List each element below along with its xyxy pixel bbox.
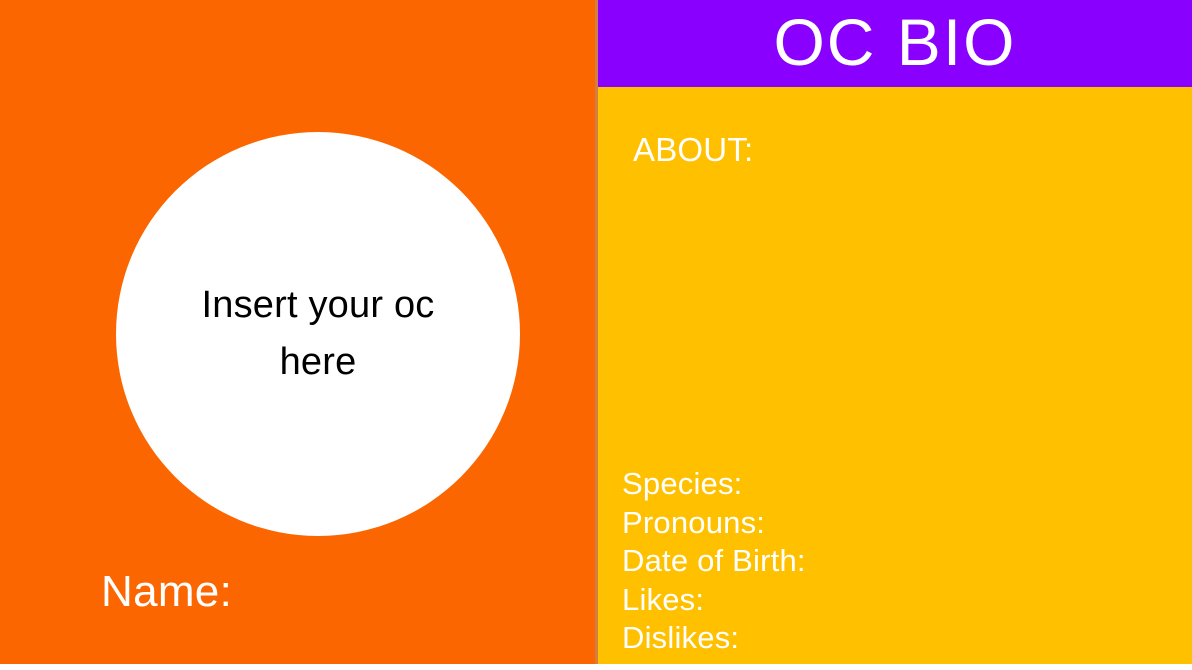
field-label-date-of-birth: Date of Birth: xyxy=(622,543,806,578)
oc-bio-template: Insert your oc here Name: OC BIO ABOUT: … xyxy=(0,0,1192,670)
about-section-label: ABOUT: xyxy=(633,133,753,166)
field-label-pronouns: Pronouns: xyxy=(622,505,765,540)
page-title: OC BIO xyxy=(773,9,1016,75)
name-field-label: Name: xyxy=(101,570,232,614)
list-item[interactable]: Date of Birth: xyxy=(622,542,1162,581)
field-value-dislikes[interactable] xyxy=(739,620,745,655)
list-item[interactable]: Pronouns: xyxy=(622,504,1162,543)
field-value-species[interactable] xyxy=(743,466,749,501)
field-value-likes[interactable] xyxy=(704,582,710,617)
bottom-strip xyxy=(0,664,1192,670)
bio-fields-list: Species: Pronouns: Date of Birth: Likes:… xyxy=(622,465,1162,658)
field-value-pronouns[interactable] xyxy=(765,505,771,540)
list-item[interactable]: Species: xyxy=(622,465,1162,504)
field-label-dislikes: Dislikes: xyxy=(622,620,739,655)
field-value-date-of-birth[interactable] xyxy=(806,543,812,578)
field-label-species: Species: xyxy=(622,466,743,501)
oc-portrait-placeholder-circle[interactable]: Insert your oc here xyxy=(116,132,520,536)
bio-header-bar: OC BIO xyxy=(598,0,1192,87)
list-item[interactable]: Dislikes: xyxy=(622,619,1162,658)
field-label-likes: Likes: xyxy=(622,582,704,617)
about-section-value[interactable] xyxy=(633,182,1153,432)
list-item[interactable]: Likes: xyxy=(622,581,1162,620)
oc-portrait-placeholder-text: Insert your oc here xyxy=(168,277,468,391)
